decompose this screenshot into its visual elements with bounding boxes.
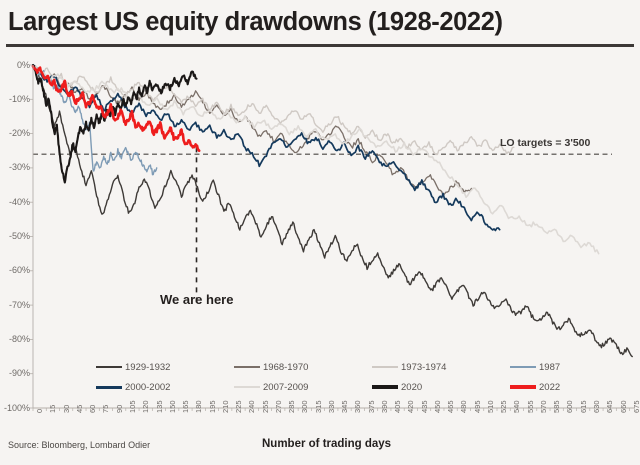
x-tick-label: 450 — [434, 400, 442, 413]
x-tick-label: 480 — [460, 400, 468, 413]
legend-label: 2007-2009 — [263, 382, 308, 393]
y-tick-label: -80% — [0, 335, 30, 344]
x-tick-label: 0 — [36, 409, 44, 413]
x-tick-label: 405 — [394, 400, 402, 413]
y-tick-label: -90% — [0, 369, 30, 378]
y-tick-label: -20% — [0, 129, 30, 138]
y-tick-label: 0% — [0, 61, 30, 70]
x-tick-label: 435 — [421, 400, 429, 413]
x-tick-label: 240 — [248, 400, 256, 413]
x-tick-label: 525 — [500, 400, 508, 413]
x-tick-label: 210 — [222, 400, 230, 413]
x-tick-label: 390 — [381, 400, 389, 413]
x-tick-label: 540 — [513, 400, 521, 413]
x-tick-label: 495 — [474, 400, 482, 413]
y-tick-label: -70% — [0, 301, 30, 310]
legend-swatch-icon — [96, 386, 122, 389]
x-tick-label: 555 — [527, 400, 535, 413]
legend-swatch-icon — [234, 386, 260, 388]
y-tick-label: -50% — [0, 232, 30, 241]
legend-swatch-icon — [372, 366, 398, 368]
legend-swatch-icon — [510, 385, 536, 389]
chart-legend: 1929-19321968-19701973-19741987 2000-200… — [96, 357, 628, 399]
chart-page: Largest US equity drawdowns (1928-2022) … — [0, 0, 640, 465]
y-tick-label: -60% — [0, 266, 30, 275]
x-tick-label: 630 — [593, 400, 601, 413]
x-tick-label: 330 — [328, 400, 336, 413]
data-series-group — [33, 65, 632, 357]
legend-swatch-icon — [372, 385, 398, 389]
x-tick-label: 660 — [620, 400, 628, 413]
y-tick-label: -10% — [0, 95, 30, 104]
x-tick-label: 345 — [341, 400, 349, 413]
page-title: Largest US equity drawdowns (1928-2022) — [8, 2, 634, 42]
legend-item-2007-2009[interactable]: 2007-2009 — [234, 377, 308, 397]
x-tick-label: 570 — [540, 400, 548, 413]
x-axis-title: Number of trading days — [262, 438, 391, 450]
x-tick-label: 165 — [182, 400, 190, 413]
x-tick-label: 270 — [275, 400, 283, 413]
legend-label: 2022 — [539, 382, 560, 393]
title-bar: Largest US equity drawdowns (1928-2022) — [0, 0, 640, 44]
legend-label: 1929-1932 — [125, 362, 170, 373]
lo-target-annotation: LO targets = 3'500 — [500, 137, 590, 149]
x-tick-label: 375 — [368, 400, 376, 413]
x-tick-label: 150 — [169, 400, 177, 413]
x-tick-label: 105 — [129, 400, 137, 413]
legend-item-1987[interactable]: 1987 — [510, 357, 560, 377]
x-tick-label: 465 — [447, 400, 455, 413]
x-tick-label: 90 — [116, 405, 124, 413]
legend-item-2022[interactable]: 2022 — [510, 377, 560, 397]
x-tick-label: 510 — [487, 400, 495, 413]
x-tick-label: 300 — [301, 400, 309, 413]
x-tick-label: 120 — [142, 400, 150, 413]
x-tick-label: 135 — [156, 400, 164, 413]
reference-lines — [33, 147, 612, 305]
x-tick-label: 360 — [354, 400, 362, 413]
x-tick-label: 645 — [606, 400, 614, 413]
x-tick-label: 45 — [76, 405, 84, 413]
x-tick-label: 615 — [580, 400, 588, 413]
legend-label: 2020 — [401, 382, 422, 393]
legend-item-1973-1974[interactable]: 1973-1974 — [372, 357, 446, 377]
source-note: Source: Bloomberg, Lombard Odier — [8, 440, 150, 450]
y-tick-label: -30% — [0, 163, 30, 172]
legend-item-2000-2002[interactable]: 2000-2002 — [96, 377, 170, 397]
legend-label: 2000-2002 — [125, 382, 170, 393]
x-tick-label: 15 — [49, 405, 57, 413]
legend-swatch-icon — [510, 366, 536, 368]
legend-swatch-icon — [234, 366, 260, 368]
title-divider — [6, 44, 634, 47]
series-line-2000-2002 — [33, 65, 500, 230]
series-line-1929-1932 — [33, 65, 632, 357]
legend-label: 1968-1970 — [263, 362, 308, 373]
we-are-here-annotation: We are here — [160, 292, 233, 307]
y-tick-label: -100% — [0, 404, 30, 413]
x-tick-label: 255 — [262, 400, 270, 413]
x-tick-label: 675 — [633, 400, 640, 413]
legend-item-1968-1970[interactable]: 1968-1970 — [234, 357, 308, 377]
x-tick-label: 75 — [102, 405, 110, 413]
y-tick-label: -40% — [0, 198, 30, 207]
legend-item-2020[interactable]: 2020 — [372, 377, 422, 397]
legend-item-1929-1932[interactable]: 1929-1932 — [96, 357, 170, 377]
x-tick-label: 60 — [89, 405, 97, 413]
x-tick-label: 420 — [407, 400, 415, 413]
legend-row-1: 1929-19321968-19701973-19741987 — [96, 357, 628, 377]
x-tick-label: 180 — [195, 400, 203, 413]
x-tick-label: 195 — [209, 400, 217, 413]
legend-label: 1973-1974 — [401, 362, 446, 373]
legend-swatch-icon — [96, 366, 122, 368]
x-tick-label: 315 — [315, 400, 323, 413]
x-tick-label: 585 — [553, 400, 561, 413]
legend-row-2: 2000-20022007-200920202022 — [96, 377, 628, 397]
x-tick-label: 600 — [566, 400, 574, 413]
legend-label: 1987 — [539, 362, 560, 373]
x-tick-label: 30 — [63, 405, 71, 413]
x-tick-label: 285 — [288, 400, 296, 413]
x-tick-label: 225 — [235, 400, 243, 413]
